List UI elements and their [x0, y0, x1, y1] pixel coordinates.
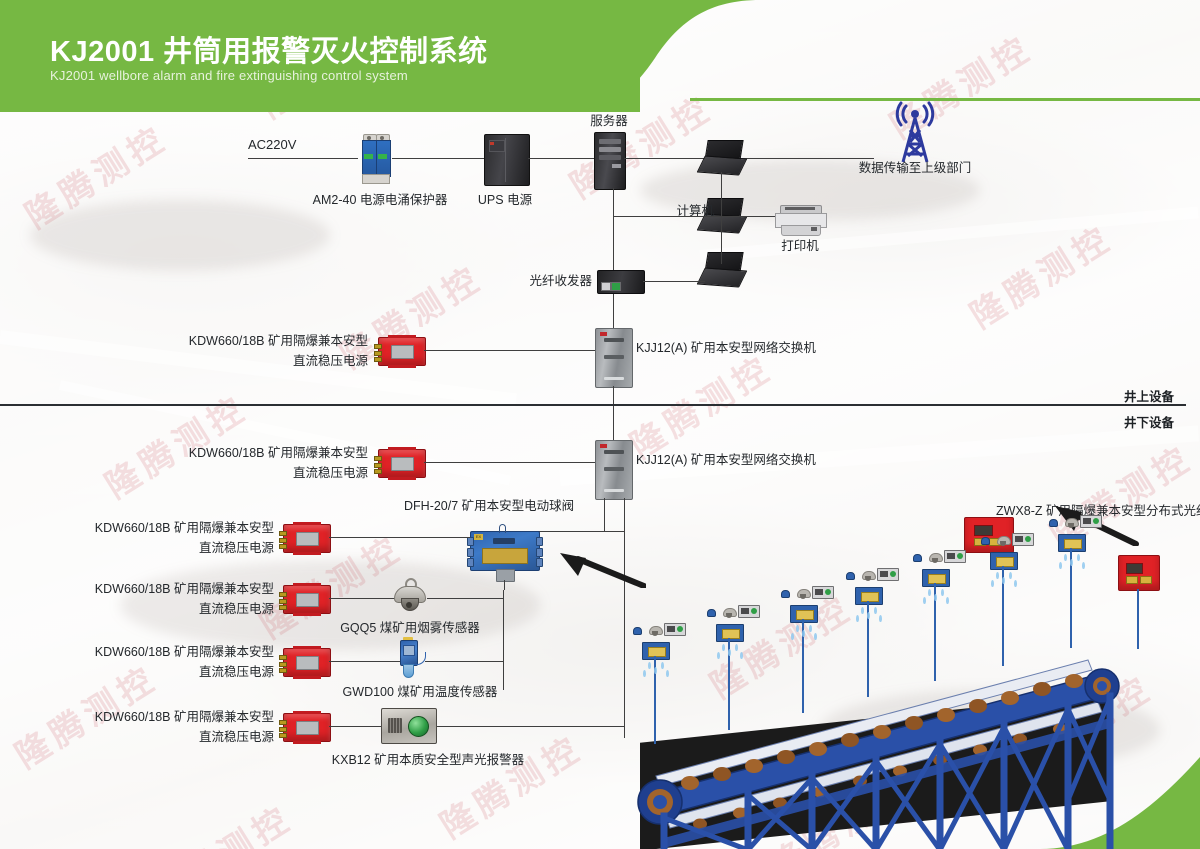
antenna-tower-icon [880, 98, 950, 164]
explosion-proof-power-supply-icon [378, 337, 426, 366]
label-power-supply-row0-line1: KDW660/18B 矿用隔爆兼本安型 [160, 445, 368, 462]
line-smoke-to-bus [427, 598, 504, 599]
label-power-supply-row2-line2: 直流稳压电源 [66, 601, 274, 618]
surge-protector-icon [358, 134, 392, 182]
label-media-converter: 光纤收发器 [500, 273, 592, 290]
label-smoke-sensor: GQQ5 煤矿用烟雾传感器 [330, 620, 490, 637]
label-switch-underground: KJJ12(A) 矿用本安型网络交换机 [636, 452, 816, 469]
label-computer: 计算机 [620, 203, 714, 220]
page-subtitle: KJ2001 wellbore alarm and fire extinguis… [50, 68, 408, 83]
printer-icon [775, 205, 825, 237]
label-power-supply-row4-line1: KDW660/18B 矿用隔爆兼本安型 [66, 709, 274, 726]
line-field-bus [503, 590, 504, 690]
label-ball-valve: DFH-20/7 矿用本安型电动球阀 [404, 498, 574, 515]
line-switch-down-left [604, 498, 605, 532]
label-power-supply-row0-line2: 直流稳压电源 [160, 465, 368, 482]
label-zone-surface: 井上设备 [1124, 386, 1174, 405]
label-power-supply-row3-line2: 直流稳压电源 [66, 664, 274, 681]
temperature-sensor-icon [393, 638, 423, 678]
label-spd: AM2-40 电源电涌保护器 [300, 192, 460, 209]
explosion-proof-power-supply-icon [283, 648, 331, 677]
label-power-supply-row1-line2: 直流稳压电源 [66, 540, 274, 557]
label-alarm: KXB12 矿用本质安全型声光报警器 [318, 752, 538, 769]
line-alarm-to-bus [437, 726, 624, 727]
sound-light-alarm-icon [381, 708, 437, 744]
explosion-proof-power-supply-icon [283, 585, 331, 614]
server-tower-icon [594, 132, 626, 190]
surface-underground-divider [0, 404, 1186, 406]
network-switch-icon-underground [595, 440, 633, 500]
explosion-proof-power-supply-icon [283, 524, 331, 553]
line-temp-to-bus [425, 661, 504, 662]
line-computer-to-printer [613, 216, 783, 217]
explosion-proof-power-supply-icon [283, 713, 331, 742]
pointer-arrow-left [556, 548, 646, 593]
label-power-supply-surface-line2: 直流稳压电源 [160, 353, 368, 370]
smoke-sensor-icon [391, 578, 427, 612]
line-kdw-to-switch-surface [424, 350, 595, 351]
label-ac-input: AC220V [248, 136, 296, 153]
line-valve-stem [504, 580, 505, 590]
label-power-supply-surface-line1: KDW660/18B 矿用隔爆兼本安型 [160, 333, 368, 350]
label-temp-sensor: GWD100 煤矿用温度传感器 [335, 684, 505, 701]
label-ups: UPS 电源 [455, 192, 555, 209]
fiber-temperature-host-icon [1118, 555, 1160, 591]
label-power-supply-row1-line1: KDW660/18B 矿用隔爆兼本安型 [66, 520, 274, 537]
line-surface-to-underground [613, 386, 614, 446]
page-title: KJ2001 井筒用报警灭火控制系统 [50, 28, 488, 70]
label-server: 服务器 [569, 113, 649, 130]
line-spd-to-ups [392, 158, 484, 159]
line-ups-to-server [528, 158, 594, 159]
diagram-canvas: 隆腾测控 隆腾测控 隆腾测控 隆腾测控 隆腾测控 隆腾测控 隆腾测控 隆腾测控 … [0, 0, 1200, 849]
line-ac-to-spd [248, 158, 358, 159]
line-kdw1-to-valve [329, 537, 470, 538]
line-kdw4-to-alarm [329, 726, 381, 727]
fiber-media-converter-icon [597, 270, 645, 294]
laptop-computer-icon [700, 140, 744, 176]
line-kdw3-to-temp [329, 661, 402, 662]
label-printer: 打印机 [760, 238, 840, 255]
electric-ball-valve-icon: EX [470, 531, 540, 571]
line-laptop-stack [721, 172, 722, 264]
line-server-spine [613, 188, 614, 330]
line-converter-to-laptop [643, 281, 705, 282]
label-switch-surface: KJJ12(A) 矿用本安型网络交换机 [636, 340, 816, 357]
label-uplink: 数据传输至上级部门 [845, 160, 985, 177]
ups-icon [484, 134, 530, 186]
line-switch-down-right [624, 498, 625, 738]
label-zone-underground: 井下设备 [1124, 412, 1174, 431]
label-power-supply-row2-line1: KDW660/18B 矿用隔爆兼本安型 [66, 581, 274, 598]
line-kdw-to-switch-underground [424, 462, 595, 463]
valve-actuator-icon [496, 569, 515, 582]
label-power-supply-row4-line2: 直流稳压电源 [66, 729, 274, 746]
explosion-proof-power-supply-icon [378, 449, 426, 478]
network-switch-icon-surface [595, 328, 633, 388]
line-server-to-uplink [624, 158, 874, 159]
label-power-supply-row3-line1: KDW660/18B 矿用隔爆兼本安型 [66, 644, 274, 661]
